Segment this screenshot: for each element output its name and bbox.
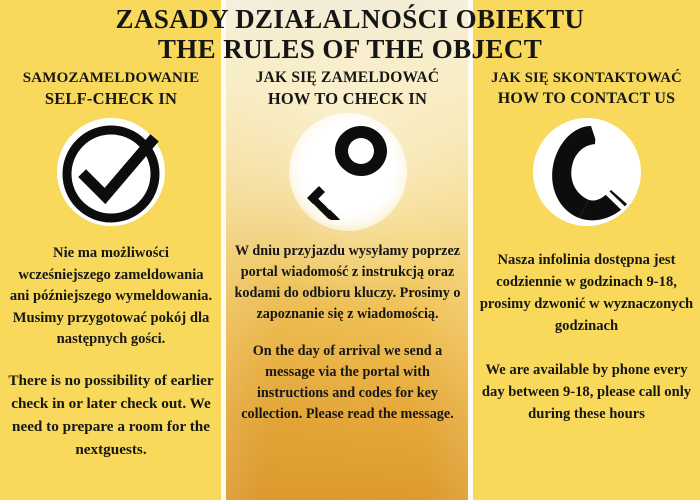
key-icon	[305, 124, 391, 220]
column-body-polish: W dniu przyjazdu wysyłamy poprzez portal…	[234, 241, 461, 325]
column-self-check-in: SAMOZAMELDOWANIE SELF-CHECK IN Nie ma mo…	[0, 0, 222, 500]
column-how-to-check-in: JAK SIĘ ZAMELDOWAĆ HOW TO CHECK IN	[222, 0, 473, 500]
icon-disc	[289, 113, 407, 231]
column-how-to-contact-us: JAK SIĘ SKONTAKTOWAĆ HOW TO CONTACT US N…	[473, 0, 700, 500]
icon-slot-check-circle	[8, 113, 214, 231]
column-heading-english: HOW TO CONTACT US	[479, 88, 694, 109]
column-heading-polish: SAMOZAMELDOWANIE	[8, 68, 214, 88]
column-body-english: We are available by phone every day betw…	[479, 359, 694, 425]
check-circle-icon	[59, 120, 163, 224]
column-body-english: On the day of arrival we send a message …	[234, 341, 461, 425]
icon-disc	[57, 118, 165, 226]
telephone-handset-icon	[539, 122, 635, 222]
column-heading-polish: JAK SIĘ SKONTAKTOWAĆ	[479, 68, 694, 88]
column-heading-polish: JAK SIĘ ZAMELDOWAĆ	[234, 68, 461, 88]
icon-disc	[533, 118, 641, 226]
title-english: THE RULES OF THE OBJECT	[0, 34, 700, 65]
column-heading-english: SELF-CHECK IN	[8, 88, 214, 109]
rules-infographic-poster: ZASADY DZIAŁALNOŚCI OBIEKTU THE RULES OF…	[0, 0, 700, 500]
column-body-polish: Nasza infolinia dostępna jest codziennie…	[479, 249, 694, 337]
icon-slot-telephone	[479, 113, 694, 231]
column-heading-english: HOW TO CHECK IN	[234, 88, 461, 109]
icon-slot-key	[234, 113, 461, 231]
column-body-english: There is no possibility of earlier check…	[8, 369, 214, 461]
column-body-polish: Nie ma możliwości wcześniejszego zameldo…	[8, 243, 214, 351]
poster-title: ZASADY DZIAŁALNOŚCI OBIEKTU THE RULES OF…	[0, 0, 700, 65]
title-polish: ZASADY DZIAŁALNOŚCI OBIEKTU	[0, 0, 700, 34]
rule-columns: SAMOZAMELDOWANIE SELF-CHECK IN Nie ma mo…	[0, 0, 700, 500]
